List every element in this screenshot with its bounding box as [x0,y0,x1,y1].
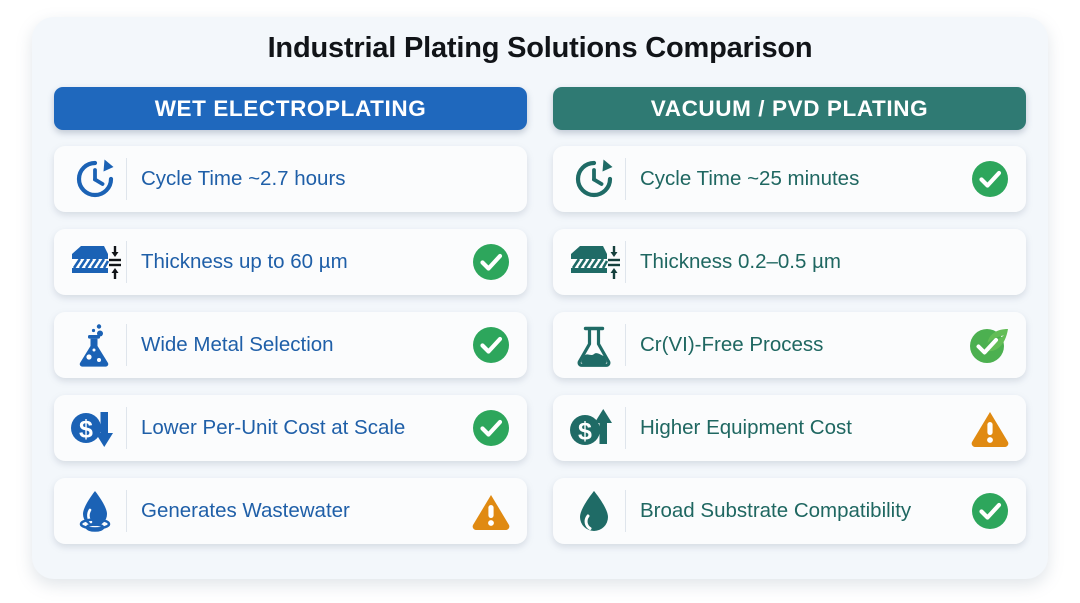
comparison-panel: Industrial Plating Solutions Comparison … [32,17,1048,579]
clock-icon [563,155,625,203]
card-row[interactable]: $ Lower Per-Unit Cost at Scale [54,395,527,461]
card-divider [625,490,626,532]
card-divider [126,241,127,283]
card-divider [126,490,127,532]
card-label: Cr(VI)-Free Process [640,333,964,357]
card-divider [126,407,127,449]
card-row[interactable]: Wide Metal Selection [54,312,527,378]
dollar-up-arrow-icon: $ [563,404,625,452]
card-label: Cycle Time ~25 minutes [640,167,964,191]
card-row[interactable]: Cycle Time ~25 minutes [553,146,1026,212]
card-divider [625,158,626,200]
comparison-columns: WET ELECTROPLATING [54,87,1026,544]
svg-text:$: $ [578,418,592,446]
card-row[interactable]: Thickness 0.2–0.5 µm [553,229,1026,295]
card-label: Generates Wastewater [141,499,465,523]
column-vacuum-pvd-plating: VACUUM / PVD PLATING [553,87,1026,544]
card-row[interactable]: Thickness up to 60 µm [54,229,527,295]
card-divider [126,158,127,200]
card-divider [625,324,626,366]
column-wet-electroplating: WET ELECTROPLATING [54,87,527,544]
card-label: Thickness 0.2–0.5 µm [640,250,1012,274]
column-header-vacuum-pvd-plating: VACUUM / PVD PLATING [553,87,1026,130]
column-header-wet-electroplating: WET ELECTROPLATING [54,87,527,130]
card-divider [126,324,127,366]
card-divider [625,241,626,283]
thickness-layer-icon [64,238,126,286]
card-divider [625,407,626,449]
card-list-wet-electroplating: Cycle Time ~2.7 hours [54,146,527,544]
card-label: Lower Per-Unit Cost at Scale [141,416,465,440]
check-circle-badge [469,323,513,367]
clock-icon [64,155,126,203]
thickness-layer-icon [563,238,625,286]
check-circle-badge [968,489,1012,533]
card-row[interactable]: $ Higher Equipment Cost [553,395,1026,461]
card-row[interactable]: Cr(VI)-Free Process [553,312,1026,378]
warning-triangle-badge [469,489,513,533]
svg-text:$: $ [79,416,93,444]
card-row[interactable]: Cycle Time ~2.7 hours [54,146,527,212]
page-title: Industrial Plating Solutions Comparison [32,32,1048,65]
warning-triangle-badge [968,406,1012,450]
eco-leaf-check-badge [968,323,1012,367]
card-row[interactable]: Broad Substrate Compatibility [553,478,1026,544]
card-label: Broad Substrate Compatibility [640,499,964,523]
card-row[interactable]: Generates Wastewater [54,478,527,544]
check-circle-badge [968,157,1012,201]
infographic-root: Industrial Plating Solutions Comparison … [0,0,1080,603]
check-circle-badge [469,240,513,284]
card-label: Thickness up to 60 µm [141,250,465,274]
dollar-down-arrow-icon: $ [64,404,126,452]
card-label: Wide Metal Selection [141,333,465,357]
card-label: Higher Equipment Cost [640,416,964,440]
water-droplet-ripple-icon [64,487,126,535]
water-droplet-icon [563,487,625,535]
flask-outline-icon [563,321,625,369]
card-list-vacuum-pvd-plating: Cycle Time ~25 minutes [553,146,1026,544]
flask-filled-icon [64,321,126,369]
check-circle-badge [469,406,513,450]
card-label: Cycle Time ~2.7 hours [141,167,513,191]
